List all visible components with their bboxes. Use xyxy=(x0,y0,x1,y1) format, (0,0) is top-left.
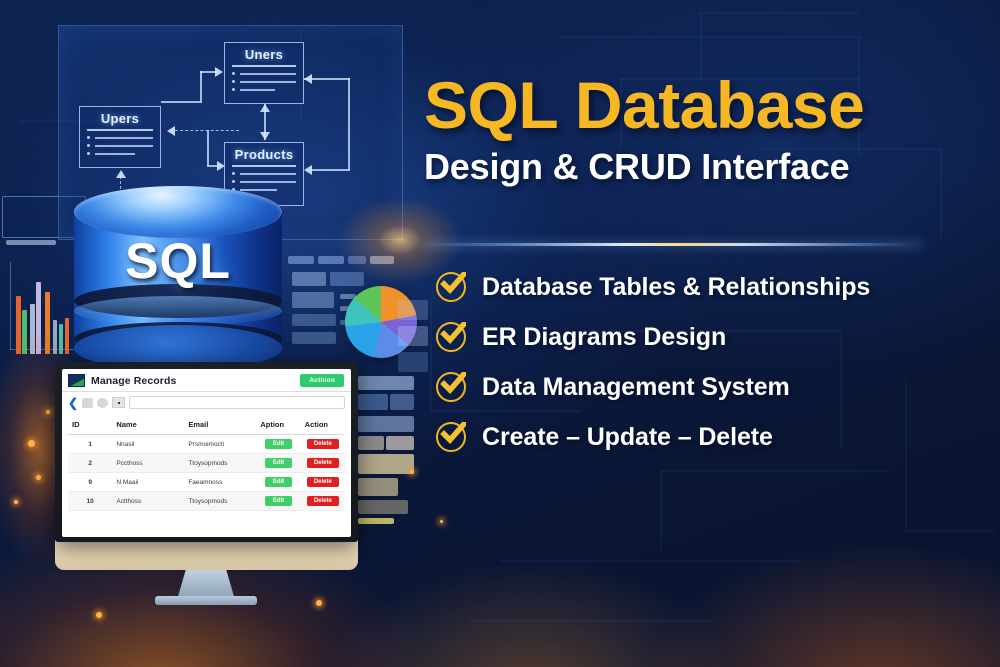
cell-email: Ttoysopmods xyxy=(184,492,256,511)
cell-id: 10 xyxy=(68,492,112,511)
column-header-name: Name xyxy=(112,415,184,435)
feature-item-1: Database Tables & Relationships xyxy=(436,272,870,302)
box-icon[interactable] xyxy=(112,397,125,408)
delete-button[interactable]: Delete xyxy=(307,439,339,449)
table-row[interactable]: 10 Actthoss Ttoysopmods Edit Delete xyxy=(68,492,345,511)
er-arrowhead xyxy=(215,67,223,77)
edit-button[interactable]: Edit xyxy=(265,496,292,506)
er-entity-label: Products xyxy=(225,143,303,162)
cell-name: Nnasil xyxy=(112,435,184,454)
spark xyxy=(36,475,41,480)
records-table: ID Name Email Aption Action 1 Nnasil Prs… xyxy=(68,415,345,511)
feature-item-2: ER Diagrams Design xyxy=(436,322,726,352)
decorative-panel-strip xyxy=(6,240,56,245)
check-mark xyxy=(440,372,466,396)
search-input[interactable] xyxy=(129,396,345,409)
check-circle-icon xyxy=(436,322,466,352)
column-header-id: ID xyxy=(68,415,112,435)
monitor-stand-foot xyxy=(155,596,257,605)
er-entity-label: Upers xyxy=(80,107,160,126)
er-arrowhead xyxy=(167,126,175,136)
page-subtitle: Design & CRUD Interface xyxy=(424,146,964,187)
cell-id: 9 xyxy=(68,473,112,492)
column-header-action: Action xyxy=(301,415,345,435)
er-arrowhead xyxy=(304,74,312,84)
er-connector xyxy=(200,71,202,103)
table-header-row: ID Name Email Aption Action xyxy=(68,415,345,435)
app-header: Manage Records Acthion xyxy=(62,369,351,392)
app-screen: Manage Records Acthion ❮ ID Name xyxy=(62,369,351,537)
spark xyxy=(46,410,50,414)
play-left-icon[interactable] xyxy=(82,398,93,408)
er-connector xyxy=(207,130,209,166)
delete-button[interactable]: Delete xyxy=(307,458,339,468)
poster-canvas: Upers Uners Products xyxy=(0,0,1000,667)
feature-label: Database Tables & Relationships xyxy=(482,273,870,302)
spark xyxy=(316,600,322,606)
check-circle-icon xyxy=(436,372,466,402)
spark xyxy=(96,612,102,618)
action-button[interactable]: Acthion xyxy=(300,374,344,387)
envelope-logo-icon xyxy=(68,374,85,387)
er-arrowhead xyxy=(260,104,270,112)
cell-name: Pccthoss xyxy=(112,454,184,473)
cell-email: Faeamnoss xyxy=(184,473,256,492)
er-entity-uners: Uners xyxy=(224,42,304,104)
circle-icon[interactable] xyxy=(97,398,108,408)
er-arrowhead xyxy=(304,165,312,175)
edit-button[interactable]: Edit xyxy=(265,439,292,449)
er-connector xyxy=(161,101,201,103)
desktop-monitor: Manage Records Acthion ❮ ID Name xyxy=(55,362,358,577)
er-connector xyxy=(348,78,350,170)
hero-text-block: SQL Database Design & CRUD Interface xyxy=(424,72,964,187)
delete-button[interactable]: Delete xyxy=(307,477,339,487)
er-entity-label: Uners xyxy=(225,43,303,62)
table-row[interactable]: 9 N Maaii Faeamnoss Edit Delete xyxy=(68,473,345,492)
er-arrowhead xyxy=(217,161,225,171)
column-header-option: Aption xyxy=(256,415,300,435)
app-title: Manage Records xyxy=(91,375,300,387)
er-arrowhead xyxy=(116,170,126,178)
cell-id: 2 xyxy=(68,454,112,473)
chevron-left-icon[interactable]: ❮ xyxy=(68,397,78,409)
decorative-bar-chart xyxy=(2,262,76,354)
check-mark xyxy=(440,322,466,346)
delete-button[interactable]: Delete xyxy=(307,496,339,506)
divider xyxy=(424,243,922,246)
spark xyxy=(410,470,414,474)
feature-label: ER Diagrams Design xyxy=(482,323,726,352)
er-arrowhead xyxy=(260,132,270,140)
spark xyxy=(14,500,18,504)
cell-name: N Maaii xyxy=(112,473,184,492)
decorative-dashboard-far-right xyxy=(398,300,434,420)
feature-item-4: Create – Update – Delete xyxy=(436,422,773,452)
spark xyxy=(28,440,35,447)
table-row[interactable]: 2 Pccthoss Ttoysopmods Edit Delete xyxy=(68,454,345,473)
cell-id: 1 xyxy=(68,435,112,454)
table-row[interactable]: 1 Nnasil Prsmoimocti Edit Delete xyxy=(68,435,345,454)
feature-item-3: Data Management System xyxy=(436,372,790,402)
page-title: SQL Database xyxy=(424,72,964,138)
edit-button[interactable]: Edit xyxy=(265,477,292,487)
cell-email: Ttoysopmods xyxy=(184,454,256,473)
er-entity-upers: Upers xyxy=(79,106,161,168)
check-circle-icon xyxy=(436,422,466,452)
sql-database-cylinder: SQL xyxy=(74,186,282,371)
er-connector xyxy=(200,71,216,73)
app-toolbar: ❮ xyxy=(62,392,351,413)
cell-email: Prsmoimocti xyxy=(184,435,256,454)
cell-name: Actthoss xyxy=(112,492,184,511)
spark xyxy=(440,520,443,523)
monitor-bezel: Manage Records Acthion ❮ ID Name xyxy=(55,362,358,542)
feature-label: Data Management System xyxy=(482,373,790,402)
er-connector xyxy=(311,169,350,171)
feature-label: Create – Update – Delete xyxy=(482,423,773,452)
check-mark xyxy=(440,272,466,296)
check-mark xyxy=(440,422,466,446)
column-header-email: Email xyxy=(184,415,256,435)
sql-label: SQL xyxy=(74,232,282,290)
check-circle-icon xyxy=(436,272,466,302)
monitor-chin xyxy=(55,540,358,570)
edit-button[interactable]: Edit xyxy=(265,458,292,468)
